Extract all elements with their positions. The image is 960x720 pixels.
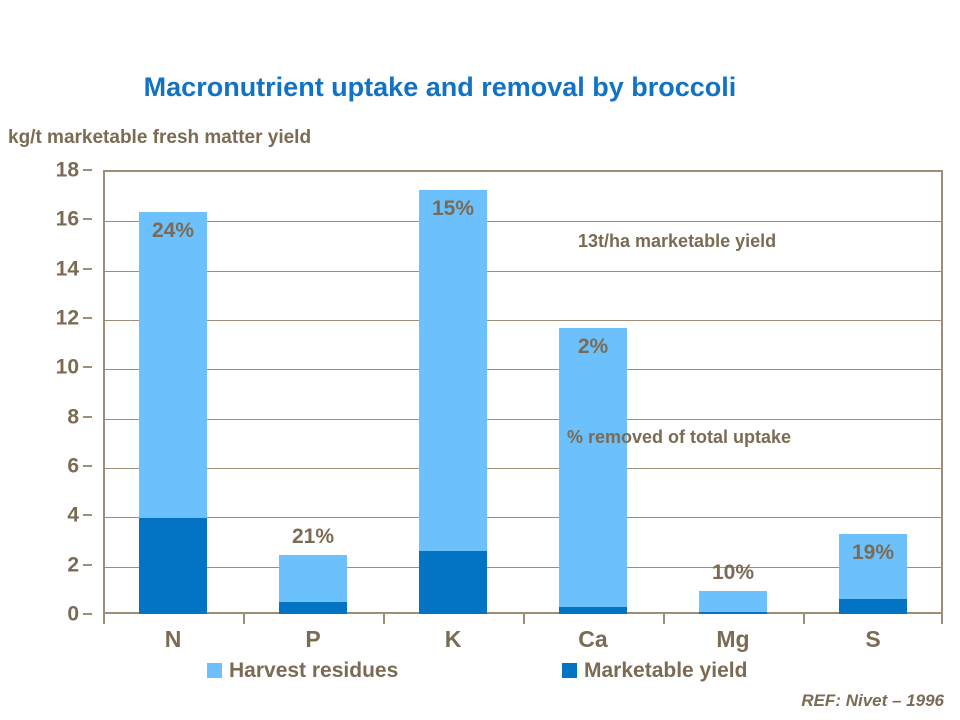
bar-group[interactable]: 21% <box>279 170 347 614</box>
x-axis-tick-mark <box>523 614 525 624</box>
x-axis-tick-label: Ca <box>578 626 607 653</box>
legend-label-harvest-residues: Harvest residues <box>229 660 398 681</box>
bar-stack <box>699 591 767 614</box>
bar-segment-harvest-residues[interactable] <box>699 591 767 612</box>
legend-label-marketable-yield: Marketable yield <box>584 660 747 681</box>
bar-group[interactable]: 19% <box>839 170 907 614</box>
bar-segment-harvest-residues[interactable] <box>139 212 207 518</box>
y-axis-tick-mark <box>83 317 92 319</box>
bar-segment-marketable-yield[interactable] <box>839 599 907 614</box>
bar-segment-marketable-yield[interactable] <box>419 551 487 614</box>
bars-layer: 24%21%15%2%10%19% <box>103 170 943 614</box>
y-axis-tick-mark <box>83 514 92 516</box>
y-axis-tick-mark <box>83 564 92 566</box>
bar-group[interactable]: 24% <box>139 170 207 614</box>
y-axis-tick-mark <box>83 613 92 615</box>
bar-value-label: 10% <box>699 562 767 583</box>
bar-stack <box>279 555 347 614</box>
bar-stack <box>139 212 207 614</box>
y-axis: 024681012141618 <box>0 170 92 614</box>
y-axis-tick-label: 6 <box>67 456 79 477</box>
bar-stack <box>559 328 627 614</box>
annotation-percent-removed: % removed of total uptake <box>567 427 791 448</box>
y-axis-tick-mark <box>83 465 92 467</box>
x-axis-tick-label: K <box>445 626 462 653</box>
bar-segment-harvest-residues[interactable] <box>419 190 487 551</box>
bar-segment-marketable-yield[interactable] <box>279 602 347 614</box>
bar-value-label: 2% <box>559 336 627 357</box>
x-axis-tick-label: S <box>865 626 880 653</box>
y-axis-tick-mark <box>83 169 92 171</box>
bar-value-label: 21% <box>279 526 347 547</box>
bar-value-label: 19% <box>839 542 907 563</box>
y-axis-tick-label: 18 <box>56 160 79 181</box>
y-axis-tick-mark <box>83 416 92 418</box>
chart-page: Macronutrient uptake and removal by broc… <box>0 0 960 720</box>
x-axis-tick-mark <box>941 614 943 624</box>
legend-swatch-marketable-yield <box>562 663 577 678</box>
y-axis-tick-mark <box>83 268 92 270</box>
bar-value-label: 24% <box>139 220 207 241</box>
legend-item-marketable-yield[interactable]: Marketable yield <box>562 660 747 681</box>
bar-segment-marketable-yield[interactable] <box>559 607 627 614</box>
bar-segment-marketable-yield[interactable] <box>139 518 207 614</box>
y-axis-tick-label: 16 <box>56 209 79 230</box>
bar-segment-harvest-residues[interactable] <box>279 555 347 602</box>
legend-swatch-harvest-residues <box>207 663 222 678</box>
y-axis-tick-mark <box>83 366 92 368</box>
bar-stack <box>419 190 487 614</box>
x-axis-tick-mark <box>383 614 385 624</box>
bar-group[interactable]: 15% <box>419 170 487 614</box>
y-axis-tick-mark <box>83 218 92 220</box>
y-axis-tick-label: 8 <box>67 406 79 427</box>
x-axis-tick-mark <box>103 614 105 624</box>
legend-item-harvest-residues[interactable]: Harvest residues <box>207 660 398 681</box>
y-axis-tick-label: 2 <box>67 554 79 575</box>
chart-legend: Harvest residues Marketable yield <box>103 660 943 690</box>
y-axis-title: kg/t marketable fresh matter yield <box>8 127 311 149</box>
x-axis-tick-mark <box>663 614 665 624</box>
annotation-marketable-yield: 13t/ha marketable yield <box>578 231 776 252</box>
page-title: Macronutrient uptake and removal by broc… <box>0 72 880 103</box>
y-axis-tick-label: 0 <box>67 604 79 625</box>
x-axis-tick-mark <box>243 614 245 624</box>
reference-note: REF: Nivet – 1996 <box>801 691 944 711</box>
y-axis-tick-label: 14 <box>56 258 79 279</box>
y-axis-tick-label: 12 <box>56 308 79 329</box>
x-axis-tick-label: P <box>305 626 320 653</box>
x-axis: NPKCaMgS <box>103 614 943 658</box>
bar-segment-harvest-residues[interactable] <box>559 328 627 607</box>
x-axis-tick-label: N <box>165 626 182 653</box>
x-axis-tick-mark <box>803 614 805 624</box>
y-axis-tick-label: 10 <box>56 357 79 378</box>
bar-value-label: 15% <box>419 198 487 219</box>
x-axis-tick-label: Mg <box>716 626 749 653</box>
y-axis-tick-label: 4 <box>67 505 79 526</box>
